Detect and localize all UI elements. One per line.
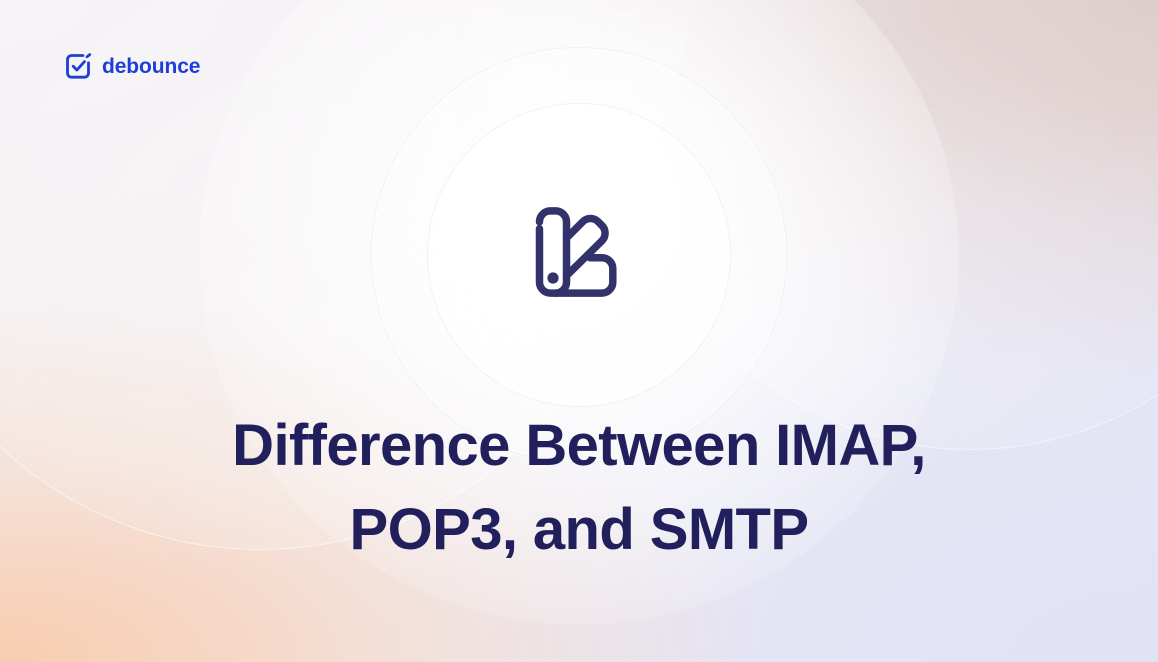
checkmark-rounded-square-icon — [63, 51, 93, 81]
blog-cover-banner: debounce Difference Between IMAP, POP3, … — [0, 0, 1158, 662]
page-title: Difference Between IMAP, POP3, and SMTP — [0, 404, 1158, 572]
swatch-dot-icon — [547, 272, 558, 283]
brand-logo[interactable]: debounce — [63, 51, 200, 81]
page-title-line-1: Difference Between IMAP, — [60, 404, 1098, 488]
color-swatch-palette-icon — [527, 200, 631, 304]
page-title-line-2: POP3, and SMTP — [60, 488, 1098, 572]
brand-wordmark: debounce — [102, 56, 200, 77]
